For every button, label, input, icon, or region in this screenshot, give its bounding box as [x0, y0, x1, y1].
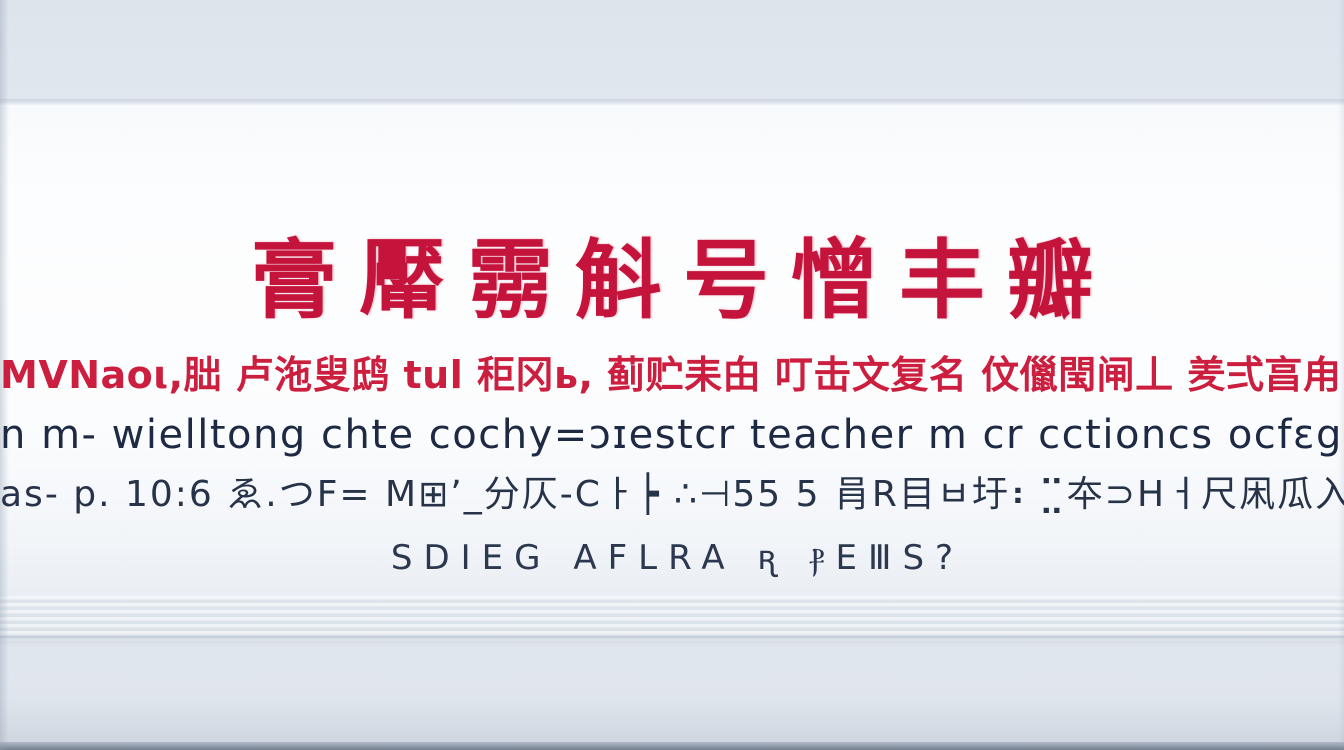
top-band-edge — [0, 103, 1344, 107]
footer-line-spaced: SDIEG AFLRA ꭆ ⳁEⅢS? — [0, 532, 1344, 584]
lower-scan-bands — [0, 596, 1344, 642]
text-block: 膏厴霛斛号憎丰瓣 MVNaoι,朏 卢沲叟鸱 tul 秬冈ь, 蓟贮耒甶 叮击文… — [0, 232, 1344, 584]
subtitle-red-line: MVNaoι,朏 卢沲叟鸱 tul 秬冈ь, 蓟贮耒甶 叮击文复名 伩儠閠闸丄 … — [0, 346, 1344, 404]
top-band-shadow — [0, 99, 1344, 105]
body-line-mixed-glyphs: as- p. 10:6 ゑ.つF= M⊞ʼ_分仄-Cㅏ┝ ∴⊣55 5 肙R目ㅂ… — [0, 468, 1344, 522]
image-canvas: 膏厴霛斛号憎丰瓣 MVNaoι,朏 卢沲叟鸱 tul 秬冈ь, 蓟贮耒甶 叮击文… — [0, 0, 1344, 750]
body-line-latin: n m- wielltong chte cochy=ɔɪestcr teache… — [0, 406, 1344, 464]
headline-title: 膏厴霛斛号憎丰瓣 — [0, 232, 1344, 330]
lower-band-edge — [0, 636, 1344, 646]
bottom-strip — [0, 742, 1344, 750]
